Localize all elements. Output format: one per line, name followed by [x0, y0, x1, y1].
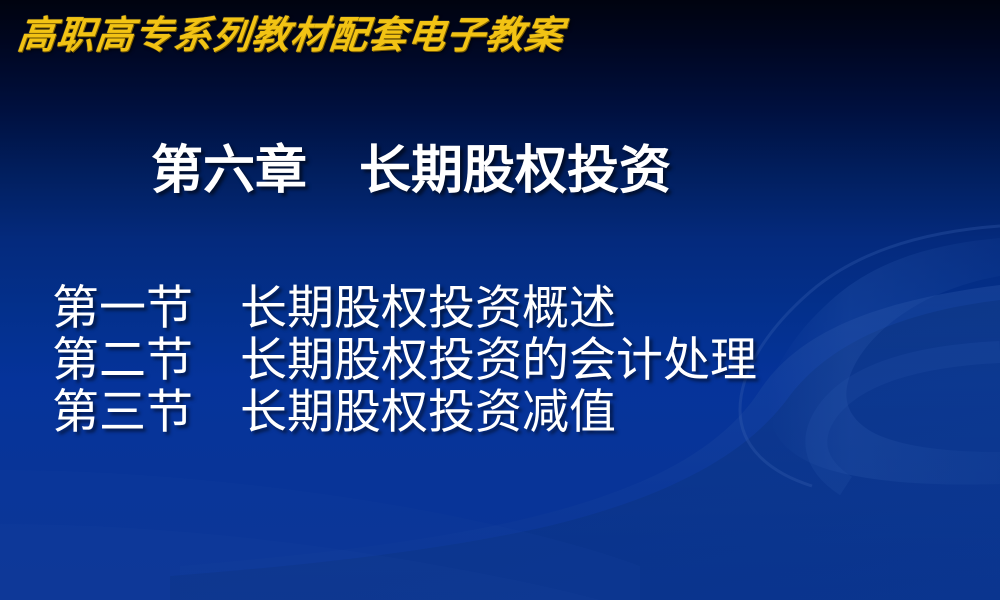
- page-title: 第六章 长期股权投资: [0, 140, 1000, 202]
- section-list: 第一节 长期股权投资概述 第二节 长期股权投资的会计处理 第三节 长期股权投资减…: [52, 283, 952, 439]
- list-item: 第三节 长期股权投资减值: [52, 387, 952, 439]
- header-banner-text: 高职高专系列教材配套电子教案: [15, 12, 566, 58]
- header-banner: 高职高专系列教材配套电子教案: [0, 0, 1000, 78]
- presentation-slide: 高职高专系列教材配套电子教案 第六章 长期股权投资 第一节 长期股权投资概述 第…: [0, 0, 1000, 600]
- list-item: 第一节 长期股权投资概述: [52, 283, 952, 335]
- list-item: 第二节 长期股权投资的会计处理: [52, 335, 952, 387]
